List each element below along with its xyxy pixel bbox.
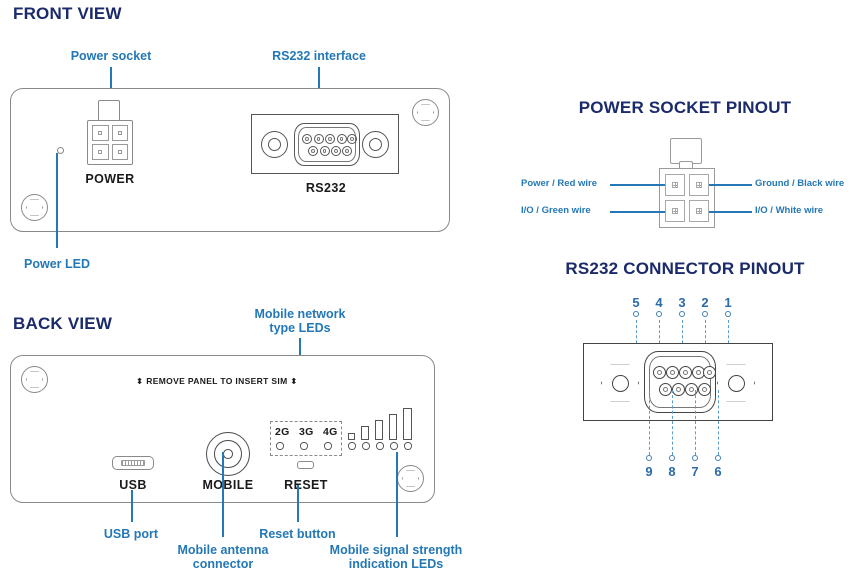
power-socket-pin bbox=[92, 144, 109, 160]
pinout-label-ground-black-wire: Ground / Black wire bbox=[755, 178, 844, 189]
reset-port-label: RESET bbox=[279, 478, 333, 492]
rs232-port-label: RS232 bbox=[291, 181, 361, 195]
mobile-port-label: MOBILE bbox=[193, 478, 263, 492]
rs232-pin-number-6: 6 bbox=[711, 464, 725, 479]
signal-led-4 bbox=[390, 442, 398, 450]
rs232-pin-marker-1 bbox=[725, 311, 731, 317]
screw-hole-top-right bbox=[412, 99, 439, 126]
pinout-pin-io-white bbox=[689, 200, 709, 222]
front-panel-chassis: POWER RS232 bbox=[10, 88, 450, 232]
network-led-3g bbox=[300, 442, 308, 450]
callout-signal-strength-leds: Mobile signal strength indication LEDs bbox=[311, 543, 481, 571]
rs232-socket-pin-3 bbox=[679, 366, 692, 379]
network-led-2g bbox=[276, 442, 284, 450]
signal-led-3 bbox=[376, 442, 384, 450]
rs232-pin bbox=[337, 134, 347, 144]
screw-hex-socket bbox=[417, 104, 434, 121]
callout-line-2: connector bbox=[193, 557, 253, 571]
power-led-indicator bbox=[57, 147, 64, 154]
rs232-pin-number-1: 1 bbox=[721, 295, 735, 310]
rs232-pin-marker-4 bbox=[656, 311, 662, 317]
callout-mobile-antenna-connector: Mobile antenna connector bbox=[155, 543, 291, 571]
rs232-leader-8 bbox=[672, 390, 673, 455]
rs232-post-hole bbox=[728, 375, 745, 392]
rs232-pinout-post-left bbox=[601, 364, 639, 402]
screw-hex-socket bbox=[26, 371, 43, 388]
rs232-pinout-plate bbox=[583, 343, 773, 421]
sim-insert-notice: ⬍ REMOVE PANEL TO INSERT SIM ⬍ bbox=[136, 376, 298, 387]
rs232-socket-pin-9 bbox=[659, 383, 672, 396]
rs232-screw-post-right bbox=[362, 131, 389, 158]
sim-arrow-right-icon: ⬍ bbox=[290, 376, 297, 386]
usb-port-connector bbox=[112, 456, 154, 470]
front-view-title: FRONT VIEW bbox=[13, 4, 122, 24]
pinout-label-io-green-wire: I/O / Green wire bbox=[521, 205, 591, 216]
leader-io-green-wire bbox=[610, 211, 665, 213]
leader-power-red-wire bbox=[610, 184, 665, 186]
pinout-label-io-white-wire: I/O / White wire bbox=[755, 205, 823, 216]
signal-bar-2 bbox=[361, 426, 369, 440]
rs232-pin-number-7: 7 bbox=[688, 464, 702, 479]
power-socket-pinout-title: POWER SOCKET PINOUT bbox=[520, 98, 850, 118]
rs232-pinout-title: RS232 CONNECTOR PINOUT bbox=[520, 259, 850, 279]
network-led-label-4g: 4G bbox=[323, 426, 338, 438]
leader-power-led bbox=[56, 153, 58, 248]
screw-hole-bottom-left bbox=[21, 194, 48, 221]
screw-hole-top-left bbox=[21, 366, 48, 393]
rs232-pin bbox=[347, 134, 357, 144]
power-socket-pin bbox=[112, 144, 129, 160]
rs232-pinout-shell-inner bbox=[649, 356, 711, 408]
rs232-mounting-plate bbox=[251, 114, 399, 174]
leader-reset-button bbox=[297, 485, 299, 522]
leader-io-white-wire bbox=[709, 211, 752, 213]
callout-line-1: Mobile signal strength bbox=[330, 543, 463, 557]
rs232-pin bbox=[342, 146, 352, 156]
screw-hole-bottom-right bbox=[397, 465, 424, 492]
screw-hex-socket bbox=[26, 199, 43, 216]
network-led-label-3g: 3G bbox=[299, 426, 314, 438]
rs232-pin-marker-5 bbox=[633, 311, 639, 317]
rs232-connector-inner bbox=[298, 127, 356, 162]
callout-line-1: Mobile antenna bbox=[178, 543, 269, 557]
rs232-pin-number-8: 8 bbox=[665, 464, 679, 479]
reset-button-hole[interactable] bbox=[297, 461, 314, 469]
leader-signal-leds bbox=[396, 452, 398, 537]
callout-line-2: indication LEDs bbox=[349, 557, 443, 571]
pinout-socket-body bbox=[659, 168, 715, 228]
network-led-4g bbox=[324, 442, 332, 450]
usb-port-label: USB bbox=[103, 478, 163, 492]
rs232-pinout-post-right bbox=[717, 364, 755, 402]
rs232-pin bbox=[320, 146, 330, 156]
sma-inner-ring bbox=[214, 440, 242, 468]
signal-bar-5 bbox=[403, 408, 412, 440]
signal-bar-4 bbox=[389, 414, 397, 440]
callout-line-2: type LEDs bbox=[269, 321, 330, 335]
rs232-socket-pin-1 bbox=[703, 366, 716, 379]
signal-led-2 bbox=[362, 442, 370, 450]
rs232-connector-shell bbox=[294, 123, 360, 166]
callout-line-1: Mobile network bbox=[255, 307, 346, 321]
rs232-socket-pin-8 bbox=[672, 383, 685, 396]
rs232-pin bbox=[302, 134, 312, 144]
callout-rs232-interface: RS232 interface bbox=[260, 49, 378, 63]
callout-usb-port: USB port bbox=[95, 527, 167, 541]
rs232-pin-marker-3 bbox=[679, 311, 685, 317]
pinout-pin-power bbox=[665, 174, 685, 196]
callout-reset-button: Reset button bbox=[255, 527, 340, 541]
signal-led-1 bbox=[348, 442, 356, 450]
power-socket-neck bbox=[98, 100, 120, 121]
pinout-label-power-red-wire: Power / Red wire bbox=[521, 178, 597, 189]
power-socket-pin bbox=[112, 125, 129, 141]
leader-ground-black-wire bbox=[709, 184, 752, 186]
callout-power-led: Power LED bbox=[12, 257, 102, 271]
rs232-pin-marker-7 bbox=[692, 455, 698, 461]
rs232-pin-number-4: 4 bbox=[652, 295, 666, 310]
pinout-pin-ground bbox=[689, 174, 709, 196]
leader-usb-port bbox=[131, 490, 133, 522]
mobile-antenna-connector bbox=[206, 432, 250, 476]
rs232-pin-marker-6 bbox=[715, 455, 721, 461]
leader-mobile-antenna-connector bbox=[222, 452, 224, 537]
rs232-pin bbox=[314, 134, 324, 144]
rs232-socket-pin-5 bbox=[653, 366, 666, 379]
rs232-pin-number-9: 9 bbox=[642, 464, 656, 479]
rs232-socket-pin-6 bbox=[698, 383, 711, 396]
signal-bar-3 bbox=[375, 420, 383, 440]
rs232-pin-number-5: 5 bbox=[629, 295, 643, 310]
network-led-label-2g: 2G bbox=[275, 426, 290, 438]
power-socket-pin bbox=[92, 125, 109, 141]
rs232-socket-pin-4 bbox=[666, 366, 679, 379]
rs232-pin bbox=[308, 146, 318, 156]
screw-hex-socket bbox=[402, 470, 419, 487]
rs232-pin-marker-8 bbox=[669, 455, 675, 461]
rs232-pin-number-2: 2 bbox=[698, 295, 712, 310]
rs232-pinout-shell bbox=[644, 351, 716, 413]
rs232-pin-marker-9 bbox=[646, 455, 652, 461]
sim-arrow-left-icon: ⬍ bbox=[136, 376, 143, 386]
sma-center-pin bbox=[223, 449, 233, 459]
sim-notice-text: REMOVE PANEL TO INSERT SIM bbox=[146, 376, 287, 386]
rs232-pin bbox=[325, 134, 335, 144]
signal-led-5 bbox=[404, 442, 412, 450]
power-port-label: POWER bbox=[73, 172, 147, 186]
rs232-leader-6 bbox=[718, 390, 719, 455]
rs232-screw-post-left bbox=[261, 131, 288, 158]
rs232-leader-7 bbox=[695, 390, 696, 455]
signal-bar-1 bbox=[348, 433, 355, 440]
power-socket-connector bbox=[87, 120, 133, 165]
rs232-leader-9 bbox=[649, 390, 650, 455]
rs232-pin-number-3: 3 bbox=[675, 295, 689, 310]
callout-power-socket: Power socket bbox=[55, 49, 167, 63]
rs232-pin-marker-2 bbox=[702, 311, 708, 317]
pinout-pin-io-green bbox=[665, 200, 685, 222]
rs232-pin bbox=[331, 146, 341, 156]
rs232-socket-pin-7 bbox=[685, 383, 698, 396]
back-view-title: BACK VIEW bbox=[13, 314, 112, 334]
rs232-post-hole bbox=[612, 375, 629, 392]
callout-mobile-network-type-leds: Mobile network type LEDs bbox=[232, 307, 368, 335]
